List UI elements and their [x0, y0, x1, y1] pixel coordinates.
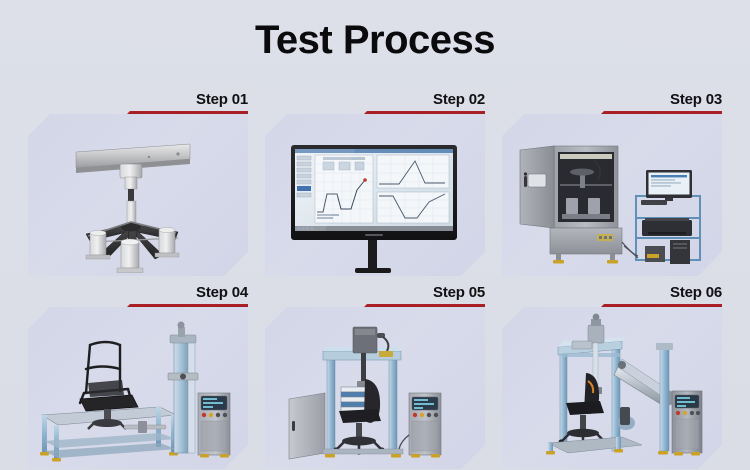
- page-title: Test Process: [0, 0, 750, 62]
- step-label: Step 05: [433, 285, 485, 301]
- step-card-body: [502, 307, 722, 469]
- step-label: Step 04: [196, 285, 248, 301]
- chair-base-caster-durability-tester-image: [28, 114, 248, 276]
- step-card-2[interactable]: Step 02: [265, 92, 485, 276]
- horizontal-chair-frame-test-bench-image: [28, 307, 248, 469]
- seat-backrest-durability-tester-image: [265, 307, 485, 469]
- step-label: Step 03: [670, 92, 722, 108]
- step-label: Step 02: [433, 92, 485, 108]
- step-card-3[interactable]: Step 03: [502, 92, 722, 276]
- test-process-page: Test Process Step 01: [0, 0, 750, 470]
- step-card-1[interactable]: Step 01: [28, 92, 248, 276]
- step-label: Step 01: [196, 92, 248, 108]
- step-card-body: [502, 114, 722, 276]
- step-card-6[interactable]: Step 06: [502, 285, 722, 469]
- step-card-5[interactable]: Step 05: [265, 285, 485, 469]
- step-card-body: [28, 114, 248, 276]
- step-label: Step 06: [670, 285, 722, 301]
- step-card-body: [265, 307, 485, 469]
- steps-grid: Step 01: [28, 92, 722, 469]
- step-card-4[interactable]: Step 04: [28, 285, 248, 469]
- step-card-body: [28, 307, 248, 469]
- enclosed-test-chamber-workstation-image: [502, 114, 722, 276]
- step-card-body: [265, 114, 485, 276]
- test-data-monitor-display-image: [265, 114, 485, 276]
- multi-axis-chair-combination-tester-image: [502, 307, 722, 469]
